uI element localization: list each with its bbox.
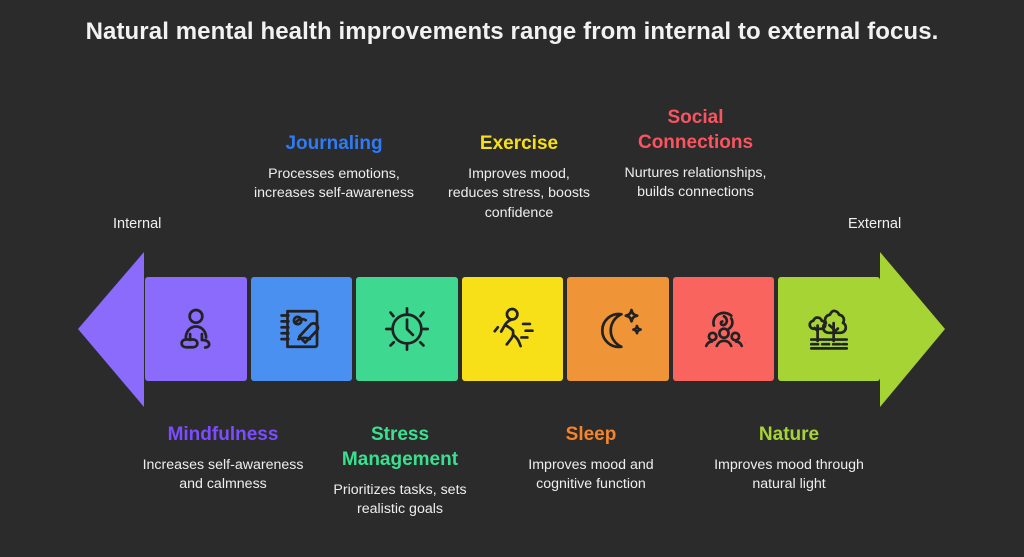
- tile-sleep[interactable]: [567, 277, 669, 381]
- note-description-exercise: Improves mood, reduces stress, boosts co…: [442, 165, 596, 223]
- note-title-stress-management: Stress Management: [326, 422, 474, 472]
- note-title-social-connections: Social Connections: [612, 105, 779, 155]
- note-sleep: Sleep Improves mood and cognitive functi…: [506, 422, 676, 495]
- left-arrowhead-icon: [78, 252, 144, 407]
- notebook-pen-icon: [274, 302, 328, 356]
- meditating-person-icon: [169, 302, 223, 356]
- tile-mindfulness[interactable]: [145, 277, 247, 381]
- note-description-nature: Improves mood through natural light: [705, 456, 873, 495]
- note-mindfulness: Mindfulness Increases self-awareness and…: [137, 422, 309, 495]
- note-description-mindfulness: Increases self-awareness and calmness: [137, 456, 309, 495]
- axis-label-internal: Internal: [113, 216, 161, 232]
- spectrum-arrow-band: [0, 252, 1024, 407]
- note-description-stress-management: Prioritizes tasks, sets realistic goals: [326, 481, 474, 520]
- tile-social-connections[interactable]: [673, 277, 775, 381]
- note-nature: Nature Improves mood through natural lig…: [705, 422, 873, 495]
- trees-icon: [802, 302, 856, 356]
- page-title: Natural mental health improvements range…: [0, 18, 1024, 46]
- moon-star-icon: [591, 302, 645, 356]
- note-title-exercise: Exercise: [442, 131, 596, 156]
- tile-journaling[interactable]: [251, 277, 353, 381]
- tile-exercise[interactable]: [462, 277, 564, 381]
- note-title-sleep: Sleep: [506, 422, 676, 447]
- note-social-connections: Social Connections Nurtures relationship…: [612, 105, 779, 203]
- running-person-icon: [486, 302, 540, 356]
- note-title-journaling: Journaling: [248, 131, 420, 156]
- clock-icon: [380, 302, 434, 356]
- people-group-icon: [697, 302, 751, 356]
- tile-nature[interactable]: [778, 277, 880, 381]
- note-title-mindfulness: Mindfulness: [137, 422, 309, 447]
- right-arrowhead-icon: [880, 252, 945, 407]
- note-description-social-connections: Nurtures relationships, builds connectio…: [612, 164, 779, 203]
- note-stress-management: Stress Management Prioritizes tasks, set…: [326, 422, 474, 520]
- tile-stress-management[interactable]: [356, 277, 458, 381]
- axis-label-external: External: [848, 216, 901, 232]
- tile-row: [145, 277, 880, 381]
- note-title-nature: Nature: [705, 422, 873, 447]
- note-journaling: Journaling Processes emotions, increases…: [248, 131, 420, 204]
- note-exercise: Exercise Improves mood, reduces stress, …: [442, 131, 596, 223]
- note-description-sleep: Improves mood and cognitive function: [506, 456, 676, 495]
- note-description-journaling: Processes emotions, increases self-aware…: [248, 165, 420, 204]
